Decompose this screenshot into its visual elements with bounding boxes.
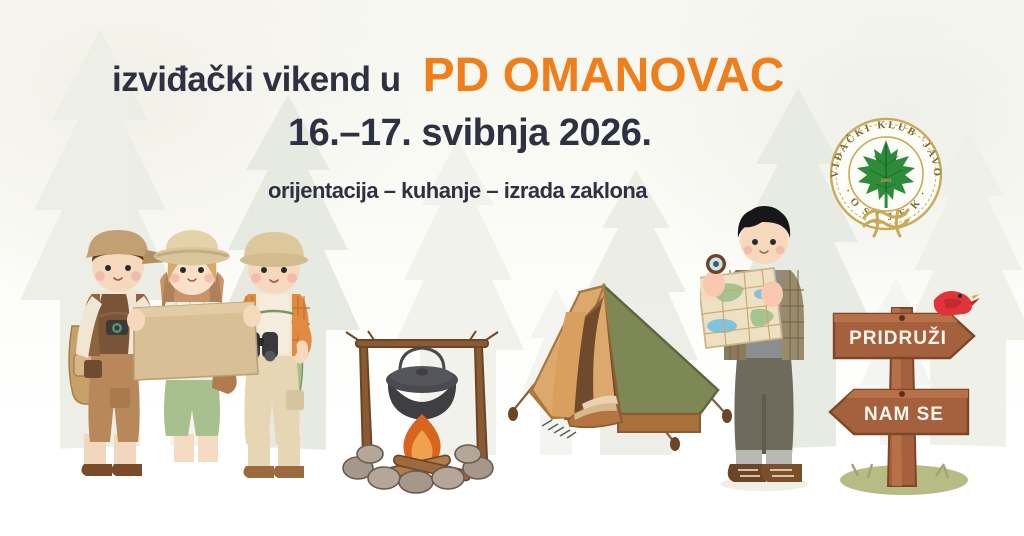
logo-year: 2001 — [880, 178, 891, 184]
sign-arrow-top-label: PRIDRUŽI — [849, 327, 947, 349]
title-line-1: izviđački vikend u PD OMANOVAC — [112, 52, 784, 100]
compass-icon — [706, 254, 726, 274]
event-activities: orijentacija – kuhanje – izrada zaklona — [268, 180, 647, 202]
title-main: PD OMANOVAC — [423, 52, 785, 100]
club-logo: IZVIĐAČKI KLUB 'JAVOR' · O S I J E K · 2… — [820, 110, 952, 242]
scouts-group-illustration — [62, 208, 324, 498]
campfire-cauldron-illustration — [336, 318, 508, 500]
hiker-with-map-illustration — [700, 198, 830, 498]
red-bird-icon — [934, 291, 980, 316]
title-prefix: izviđački vikend u — [112, 62, 401, 97]
poster-canvas: izviđački vikend u PD OMANOVAC 16.–17. s… — [0, 0, 1024, 536]
cauldron — [386, 348, 458, 420]
camping-tent-illustration — [508, 272, 732, 474]
sign-arrow-bottom-label: NAM SE — [864, 404, 944, 425]
event-date: 16.–17. svibnja 2026. — [288, 114, 651, 152]
signpost-illustration: PRIDRUŽI NAM SE — [818, 278, 984, 500]
held-map-paper — [134, 302, 258, 380]
